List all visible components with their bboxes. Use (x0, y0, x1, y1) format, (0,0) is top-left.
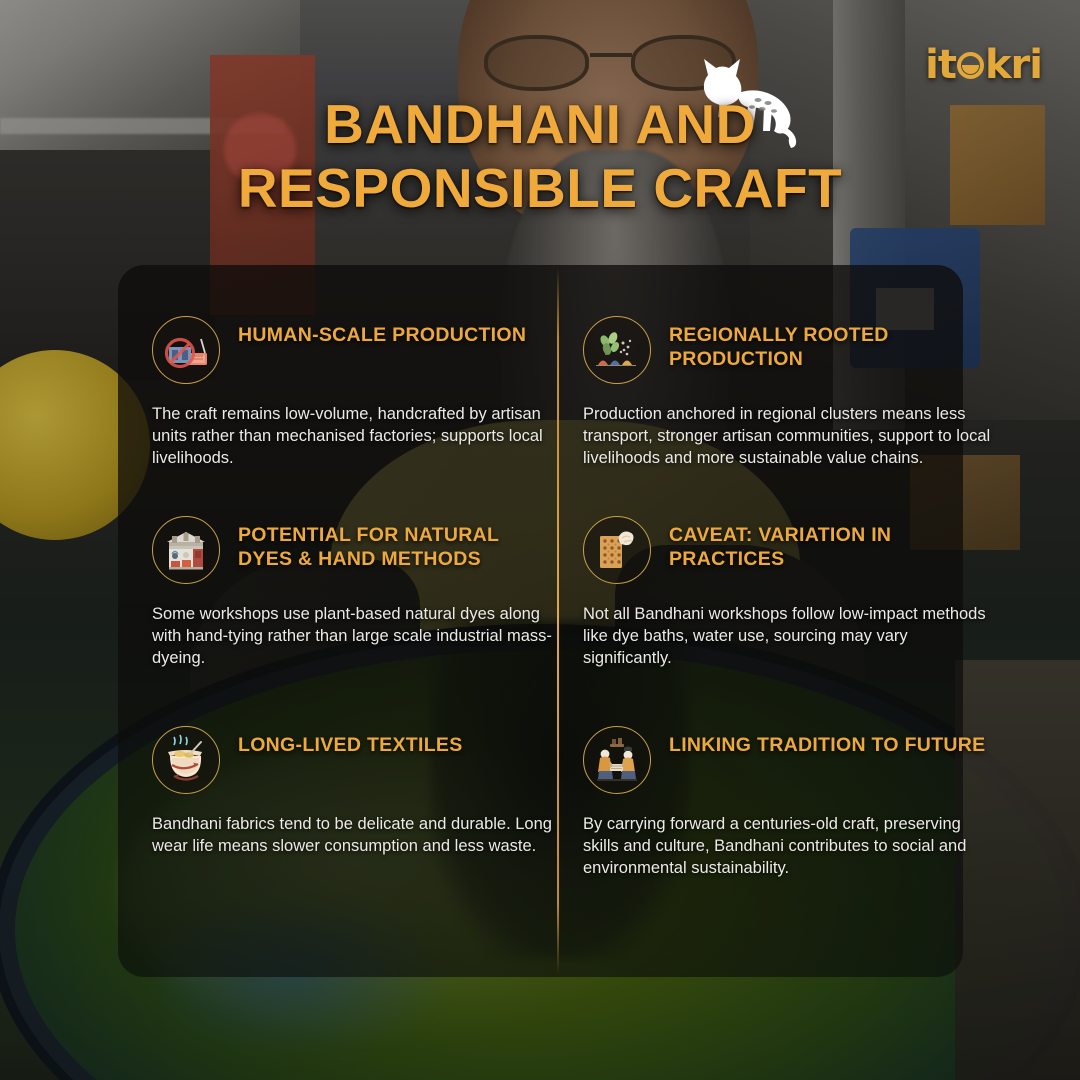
feature-body: Some workshops use plant-based natural d… (152, 604, 552, 670)
feature-heading: CAVEAT: VARIATION IN PRACTICES (669, 516, 995, 572)
feature-item-linking-tradition-to-future: LINKING TRADITION TO FUTURE By carrying … (583, 726, 995, 880)
feature-item-natural-dyes-hand-methods: POTENTIAL FOR NATURAL DYES & HAND METHOD… (152, 516, 552, 670)
feature-body: Not all Bandhani workshops follow low-im… (583, 604, 995, 670)
feature-heading: LINKING TRADITION TO FUTURE (669, 726, 985, 758)
feature-item-regionally-rooted-production: REGIONALLY ROOTED PRODUCTION Production … (583, 316, 995, 470)
feature-body: The craft remains low-volume, handcrafte… (152, 404, 572, 470)
feature-item-long-lived-textiles: LONG-LIVED TEXTILES Bandhani fabrics ten… (152, 726, 572, 858)
two-artisans-working-icon (583, 726, 651, 794)
feature-body: Production anchored in regional clusters… (583, 404, 995, 470)
feature-body: By carrying forward a centuries-old craf… (583, 814, 995, 880)
feature-body: Bandhani fabrics tend to be delicate and… (152, 814, 572, 858)
feature-item-caveat-variation-in-practices: CAVEAT: VARIATION IN PRACTICES Not all B… (583, 516, 995, 670)
no-machine-factory-icon (152, 316, 220, 384)
artisan-workshop-building-icon (152, 516, 220, 584)
feature-heading: REGIONALLY ROOTED PRODUCTION (669, 316, 995, 372)
steaming-dye-pot-icon (152, 726, 220, 794)
plants-and-dye-powders-icon (583, 316, 651, 384)
features-grid: HUMAN-SCALE PRODUCTION The craft remains… (0, 0, 1080, 1080)
feature-heading: HUMAN-SCALE PRODUCTION (238, 316, 526, 348)
feature-heading: LONG-LIVED TEXTILES (238, 726, 463, 758)
feature-item-human-scale-production: HUMAN-SCALE PRODUCTION The craft remains… (152, 316, 572, 470)
feature-heading: POTENTIAL FOR NATURAL DYES & HAND METHOD… (238, 516, 552, 572)
hand-holding-patterned-fabric-icon (583, 516, 651, 584)
